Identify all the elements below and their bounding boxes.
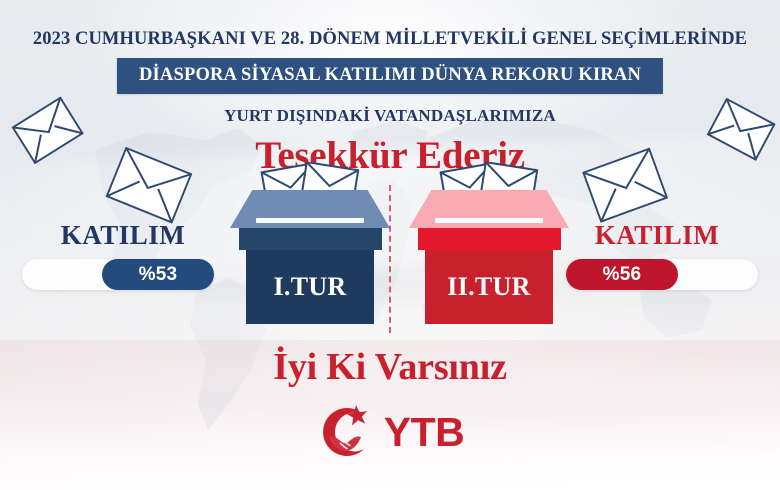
ballot-rim-round-1 — [239, 228, 382, 250]
ballot-label-round-2: II.TUR — [447, 272, 530, 302]
participation-label-round-2: KATILIM — [552, 222, 762, 249]
thanks-heading: Teşekkür Ederiz — [0, 133, 780, 178]
headline-line-1: 2023 CUMHURBAŞKANI VE 28. DÖNEM MİLLETVE… — [0, 29, 780, 50]
ballot-lid-round-1 — [230, 190, 390, 228]
ballot-slot-round-2 — [435, 218, 543, 223]
poster-root: 2023 CUMHURBAŞKANI VE 28. DÖNEM MİLLETVE… — [0, 0, 780, 490]
participation-round-2: KATILIM %56 — [552, 222, 762, 290]
headline-banner: DİASPORA SİYASAL KATILIMI DÜNYA REKORU K… — [117, 58, 663, 94]
ballot-label-round-1: I.TUR — [273, 272, 346, 302]
headline-line-3: YURT DIŞINDAKİ VATANDAŞLARIMIZA — [0, 106, 780, 126]
participation-value-round-2: %56 — [566, 259, 678, 290]
participation-bar-round-2: %56 — [566, 259, 758, 290]
ytb-logo: YTB — [0, 396, 780, 468]
participation-label-round-1: KATILIM — [18, 222, 228, 249]
ytb-wordmark: YTB — [384, 412, 465, 453]
ballot-box-round-2: II.TUR — [409, 190, 569, 324]
participation-round-1: KATILIM %53 — [18, 222, 228, 290]
participation-value-round-1: %53 — [102, 259, 214, 290]
ytb-crescent-star-handshake-icon — [316, 399, 378, 466]
closing-heading: İyi Ki Varsınız — [0, 345, 780, 389]
ballot-body-round-1: I.TUR — [246, 250, 374, 324]
participation-bar-round-1: %53 — [22, 259, 214, 290]
ballot-box-round-1: I.TUR — [230, 190, 390, 324]
ballot-body-round-2: II.TUR — [425, 250, 553, 324]
ballot-lid-round-2 — [409, 190, 569, 228]
ballot-slot-round-1 — [256, 218, 364, 223]
ballot-rim-round-2 — [418, 228, 561, 250]
